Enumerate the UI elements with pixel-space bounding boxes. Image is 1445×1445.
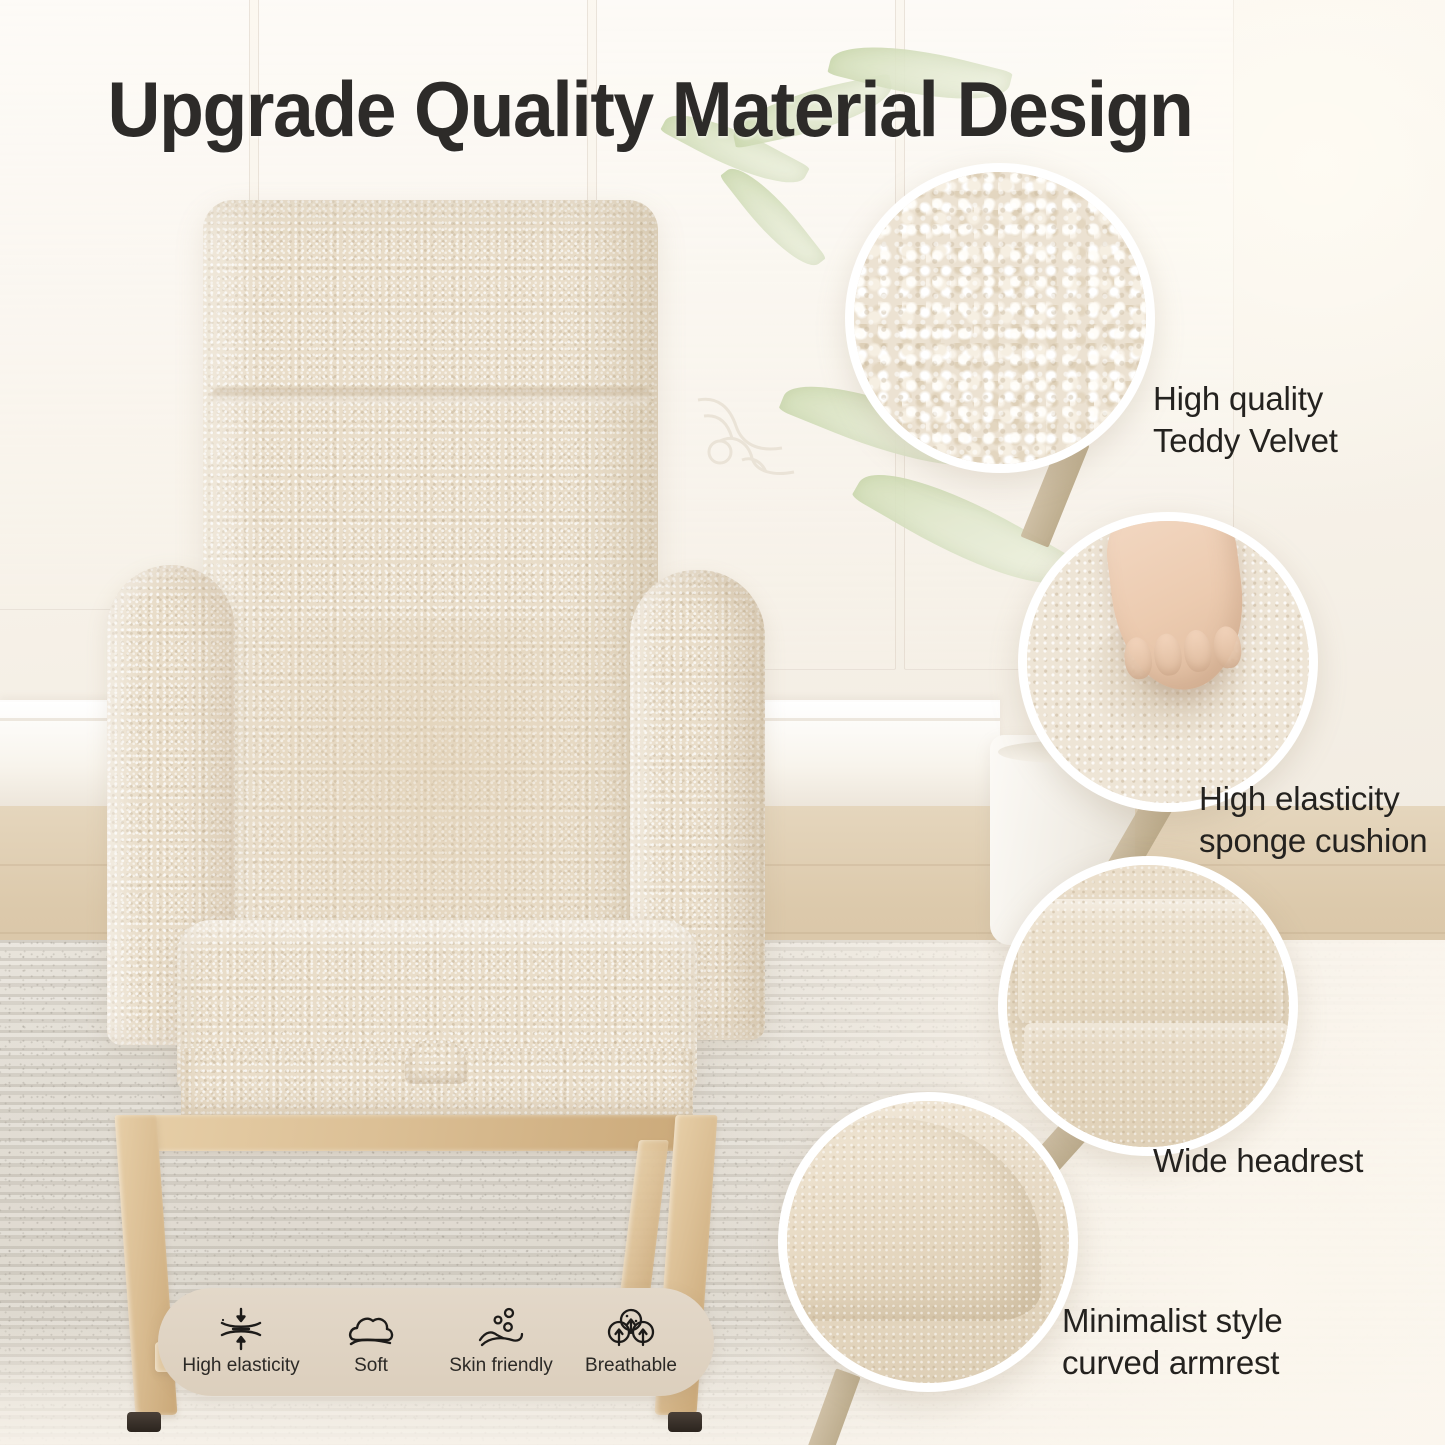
callout-label-teddy-velvet: High quality Teddy Velvet xyxy=(1153,378,1338,462)
breathable-cotton-icon xyxy=(606,1307,656,1351)
callout-image-curved-armrest xyxy=(778,1092,1078,1392)
headrest-seam xyxy=(211,388,651,404)
hand-bubbles-icon xyxy=(476,1307,526,1351)
product-feature-image: Upgrade Quality Material Design High qua… xyxy=(0,0,1445,1445)
accent-chair xyxy=(85,190,785,1270)
page-title: Upgrade Quality Material Design xyxy=(39,64,1261,155)
callout-image-sponge-cushion xyxy=(1018,512,1318,812)
feature-label: Soft xyxy=(354,1355,388,1377)
feature-skin-friendly: Skin friendly xyxy=(436,1307,566,1377)
feature-high-elasticity: High elasticity xyxy=(176,1307,306,1377)
compression-arrows-icon xyxy=(218,1307,264,1351)
chair-seat-tab xyxy=(405,1040,467,1084)
chair-wood-rail xyxy=(125,1115,710,1151)
feature-label: Breathable xyxy=(585,1355,677,1377)
cloud-icon xyxy=(346,1307,396,1351)
feature-soft: Soft xyxy=(306,1307,436,1377)
feature-label: High elasticity xyxy=(182,1355,299,1377)
callout-label-curved-armrest: Minimalist style curved armrest xyxy=(1062,1300,1283,1384)
chair-foot-right xyxy=(668,1412,702,1432)
callout-image-teddy-velvet xyxy=(845,163,1155,473)
feature-label: Skin friendly xyxy=(449,1355,553,1377)
feature-badge-bar: High elasticity Soft Skin xyxy=(158,1288,714,1396)
chair-foot-left xyxy=(127,1412,161,1432)
feature-breathable: Breathable xyxy=(566,1307,696,1377)
callout-label-wide-headrest: Wide headrest xyxy=(1153,1140,1363,1182)
callout-label-sponge-cushion: High elasticity sponge cushion xyxy=(1199,778,1427,862)
